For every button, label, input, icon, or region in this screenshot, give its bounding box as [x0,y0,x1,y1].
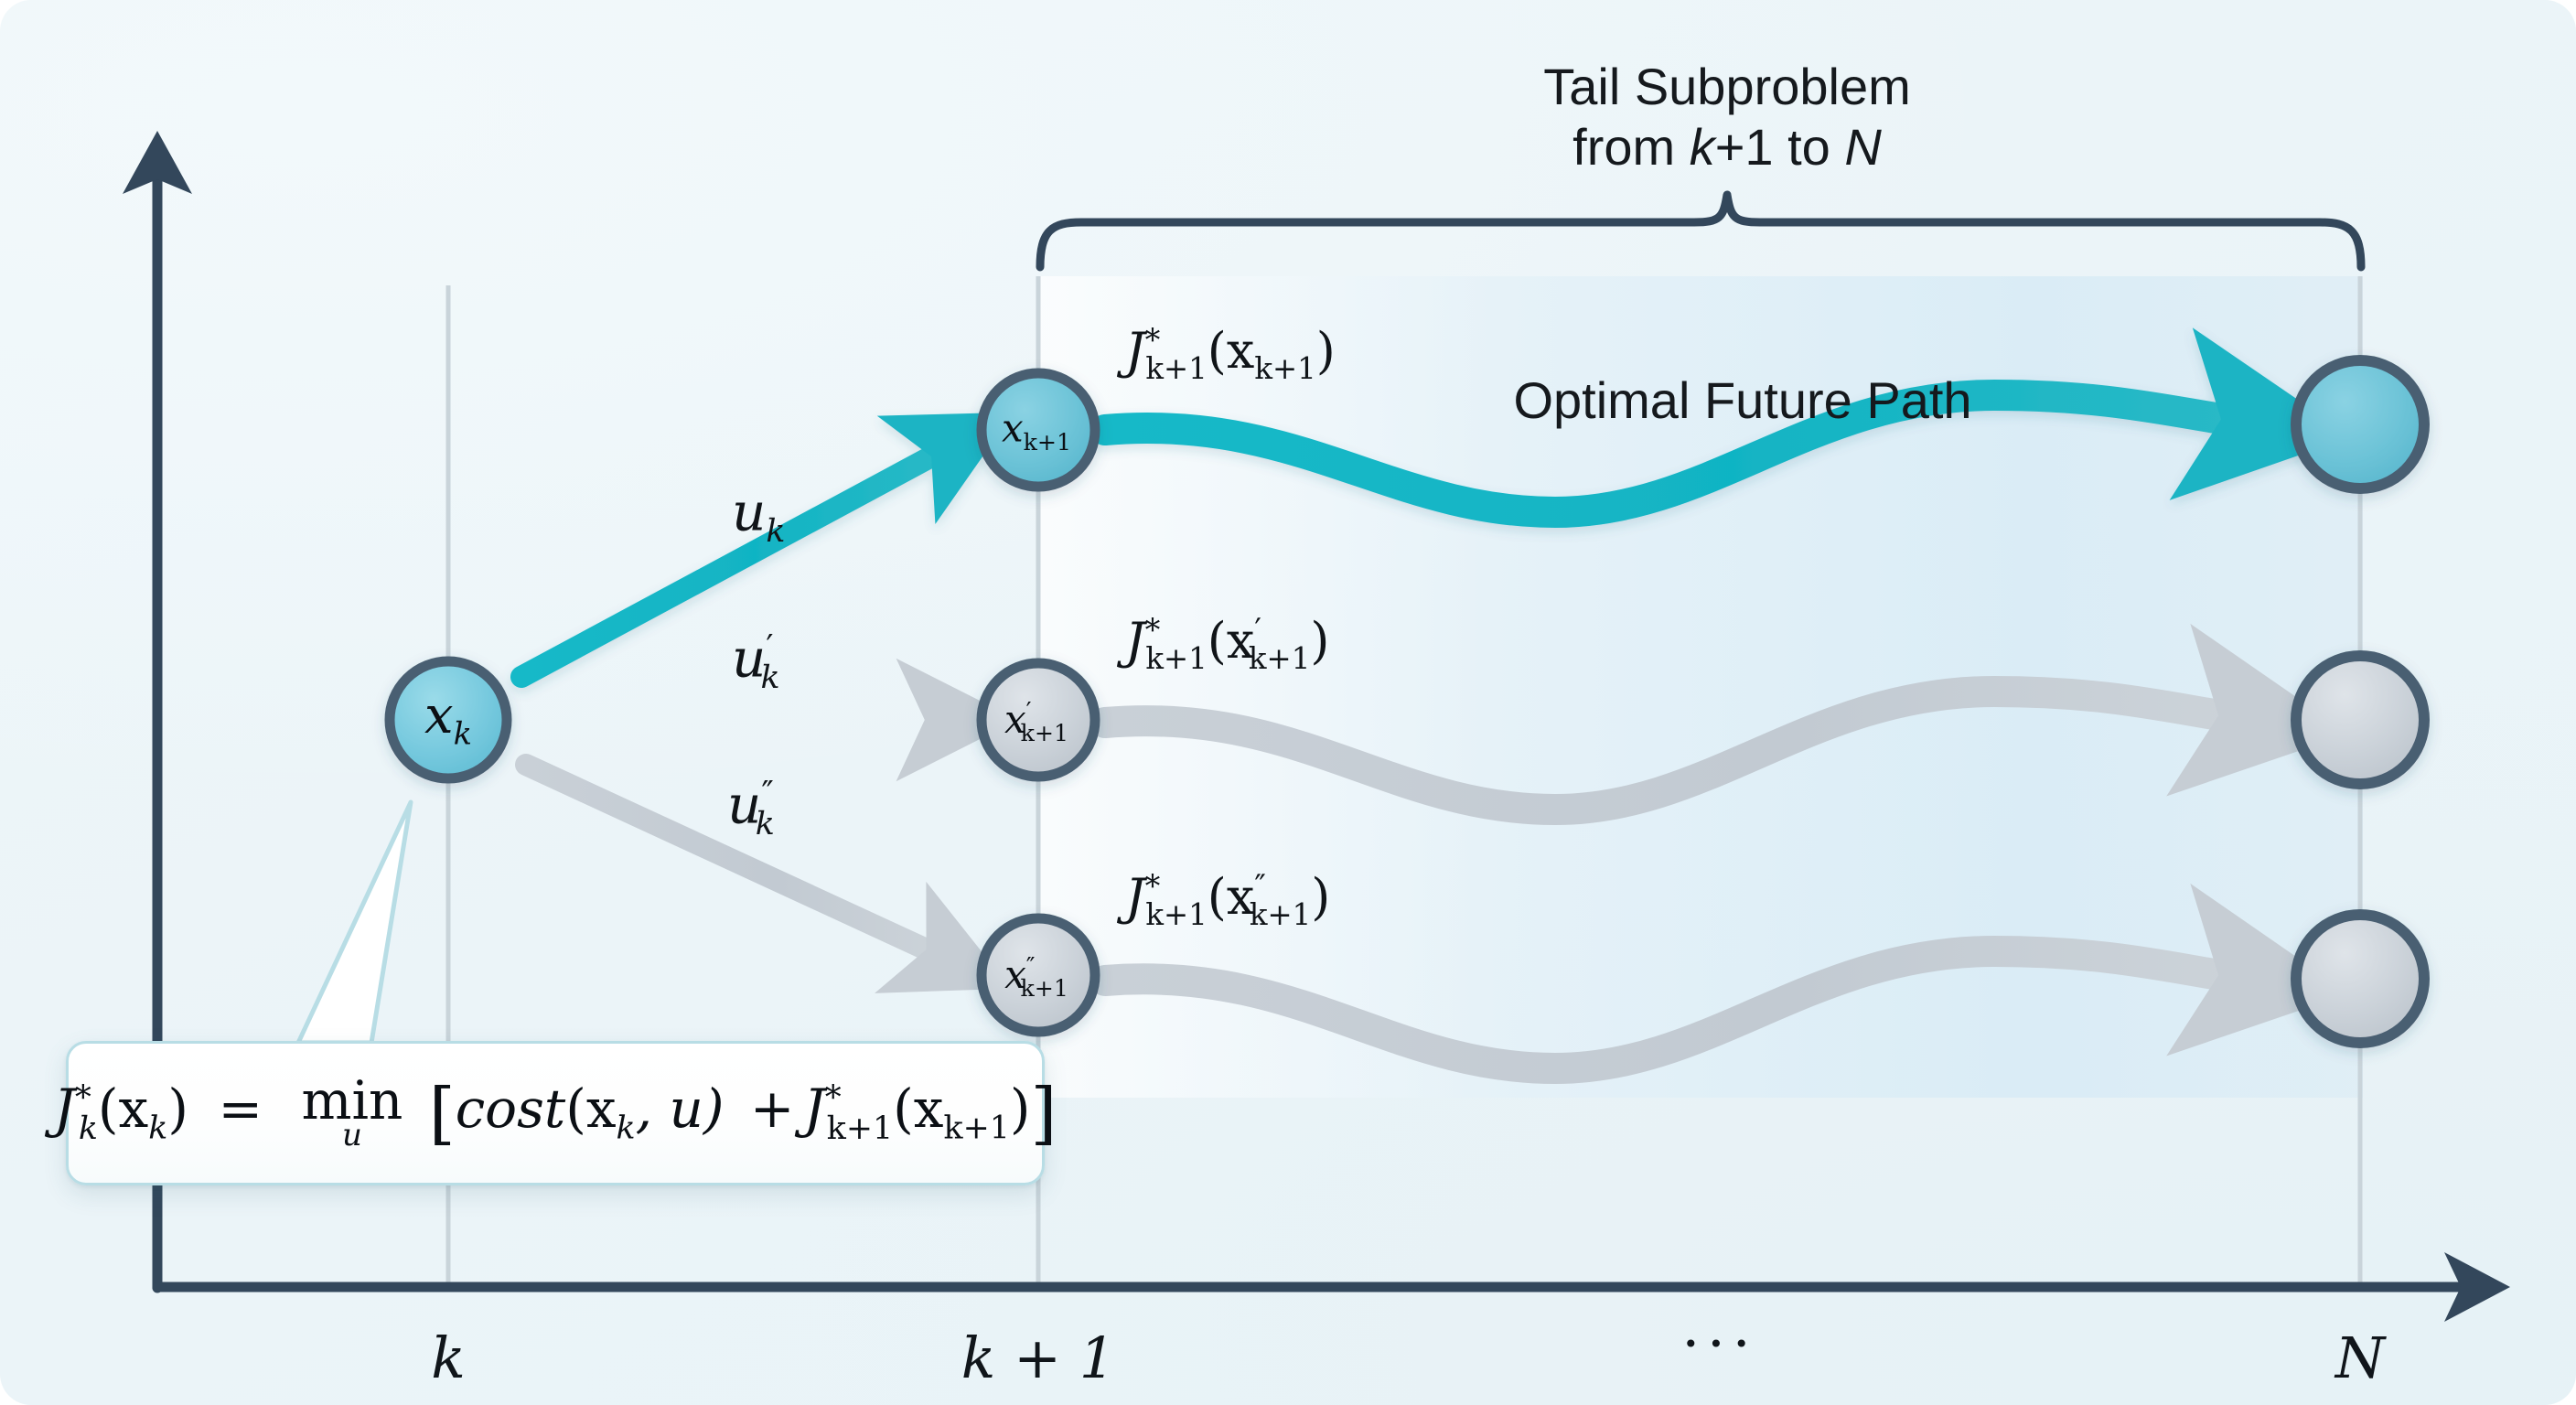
f-cost: cost [456,1078,565,1140]
f-min-var: u [342,1121,362,1150]
ctg0-close: ) [1316,322,1336,380]
f-equals: = [218,1078,263,1140]
f-rhs-close: ) [1010,1078,1031,1140]
axis-tick-N: N [2335,1325,2385,1391]
f-rhs-sub: k+1 [827,1110,893,1147]
node-terminal-alt1[interactable] [2296,656,2424,784]
control-label-alt1: u′k [732,631,780,694]
control-optimal-base: u [732,480,766,542]
ctg2-J: J [1125,868,1145,926]
cost-to-go-alt1: J*k+1(x′k+1) [1125,615,1329,673]
f-cost-u: , u) [636,1078,724,1140]
axis-tick-ellipsis: ··· [1681,1310,1757,1377]
axis-tick-k-plus-1: k + 1 [961,1325,1115,1391]
f-lhs-sub: k [79,1110,98,1147]
tail-title-from: from [1572,118,1690,176]
ctg1-J: J [1125,612,1145,670]
f-lhs-close: ) [167,1078,188,1140]
f-min-operator: min u [301,1077,402,1151]
ctg1-argsub: k+1 [1249,641,1310,676]
tail-title-k: k [1690,118,1715,176]
node-x-prime-k-plus-1[interactable] [982,663,1095,777]
f-bracket-open: [ [429,1074,456,1153]
control-label-alt2: u″k [727,778,775,841]
diagram-canvas: Tail Subproblem from k+1 to N Optimal Fu… [0,0,2576,1405]
ctg2-close: ) [1311,868,1330,926]
node-x-k[interactable] [390,661,507,778]
ctg2-open: (x [1207,868,1255,926]
callout-pointer [298,802,411,1043]
bellman-equation-text: J*k(xk) = min u [cost(xk, u) +J*k+1(xk+1… [54,1074,1057,1153]
control-label-optimal: uk [732,485,785,548]
f-lhs-argsub: k [148,1110,167,1147]
f-rhs-argsub: k+1 [944,1110,1010,1147]
ctg1-close: ) [1310,612,1329,670]
ctg2-sub: k+1 [1145,897,1207,932]
bellman-equation-callout: J*k(xk) = min u [cost(xk, u) +J*k+1(xk+1… [66,1041,1045,1185]
ctg0-argsub: k+1 [1254,351,1315,386]
control-alt2-sub: k [756,806,775,842]
f-rhs-arg: (x [893,1078,943,1140]
node-x-double-prime-k-plus-1[interactable] [982,918,1095,1032]
optimal-future-path-label: Optimal Future Path [1513,370,1971,431]
f-cost-argsub: k [617,1110,636,1147]
control-optimal-sub: k [766,513,785,550]
diagram-graphics [0,0,2576,1405]
node-terminal-alt2[interactable] [2296,915,2424,1043]
control-alt1-sub: k [761,660,780,696]
ctg0-open: (x [1207,322,1255,380]
tail-subproblem-brace [1040,195,2361,267]
f-cost-arg: (x [565,1078,616,1140]
ctg1-sub: k+1 [1145,641,1207,676]
tail-subproblem-title-line2: from k+1 to N [1543,117,1911,177]
ctg0-J: J [1125,322,1145,380]
tail-title-n: N [1844,118,1881,176]
node-x-k-plus-1[interactable] [982,373,1095,487]
f-plus: + [750,1078,795,1140]
cost-to-go-alt2: J*k+1(x″k+1) [1125,871,1330,929]
tail-title-mid: +1 to [1715,118,1845,176]
tail-subproblem-title: Tail Subproblem from k+1 to N [1543,57,1911,177]
f-bracket-close: ] [1031,1074,1057,1153]
cost-to-go-optimal: J*k+1(xk+1) [1125,325,1336,383]
f-rhs-J: J [804,1078,825,1140]
f-lhs-arg: (x [98,1078,148,1140]
ctg2-argsub: k+1 [1250,897,1311,932]
tail-subproblem-title-line1: Tail Subproblem [1543,57,1911,117]
f-lhs-J: J [54,1078,75,1140]
ctg0-sub: k+1 [1145,351,1207,386]
axis-tick-k: k [431,1325,466,1391]
ctg1-open: (x [1207,612,1255,670]
node-terminal-optimal[interactable] [2296,360,2424,488]
